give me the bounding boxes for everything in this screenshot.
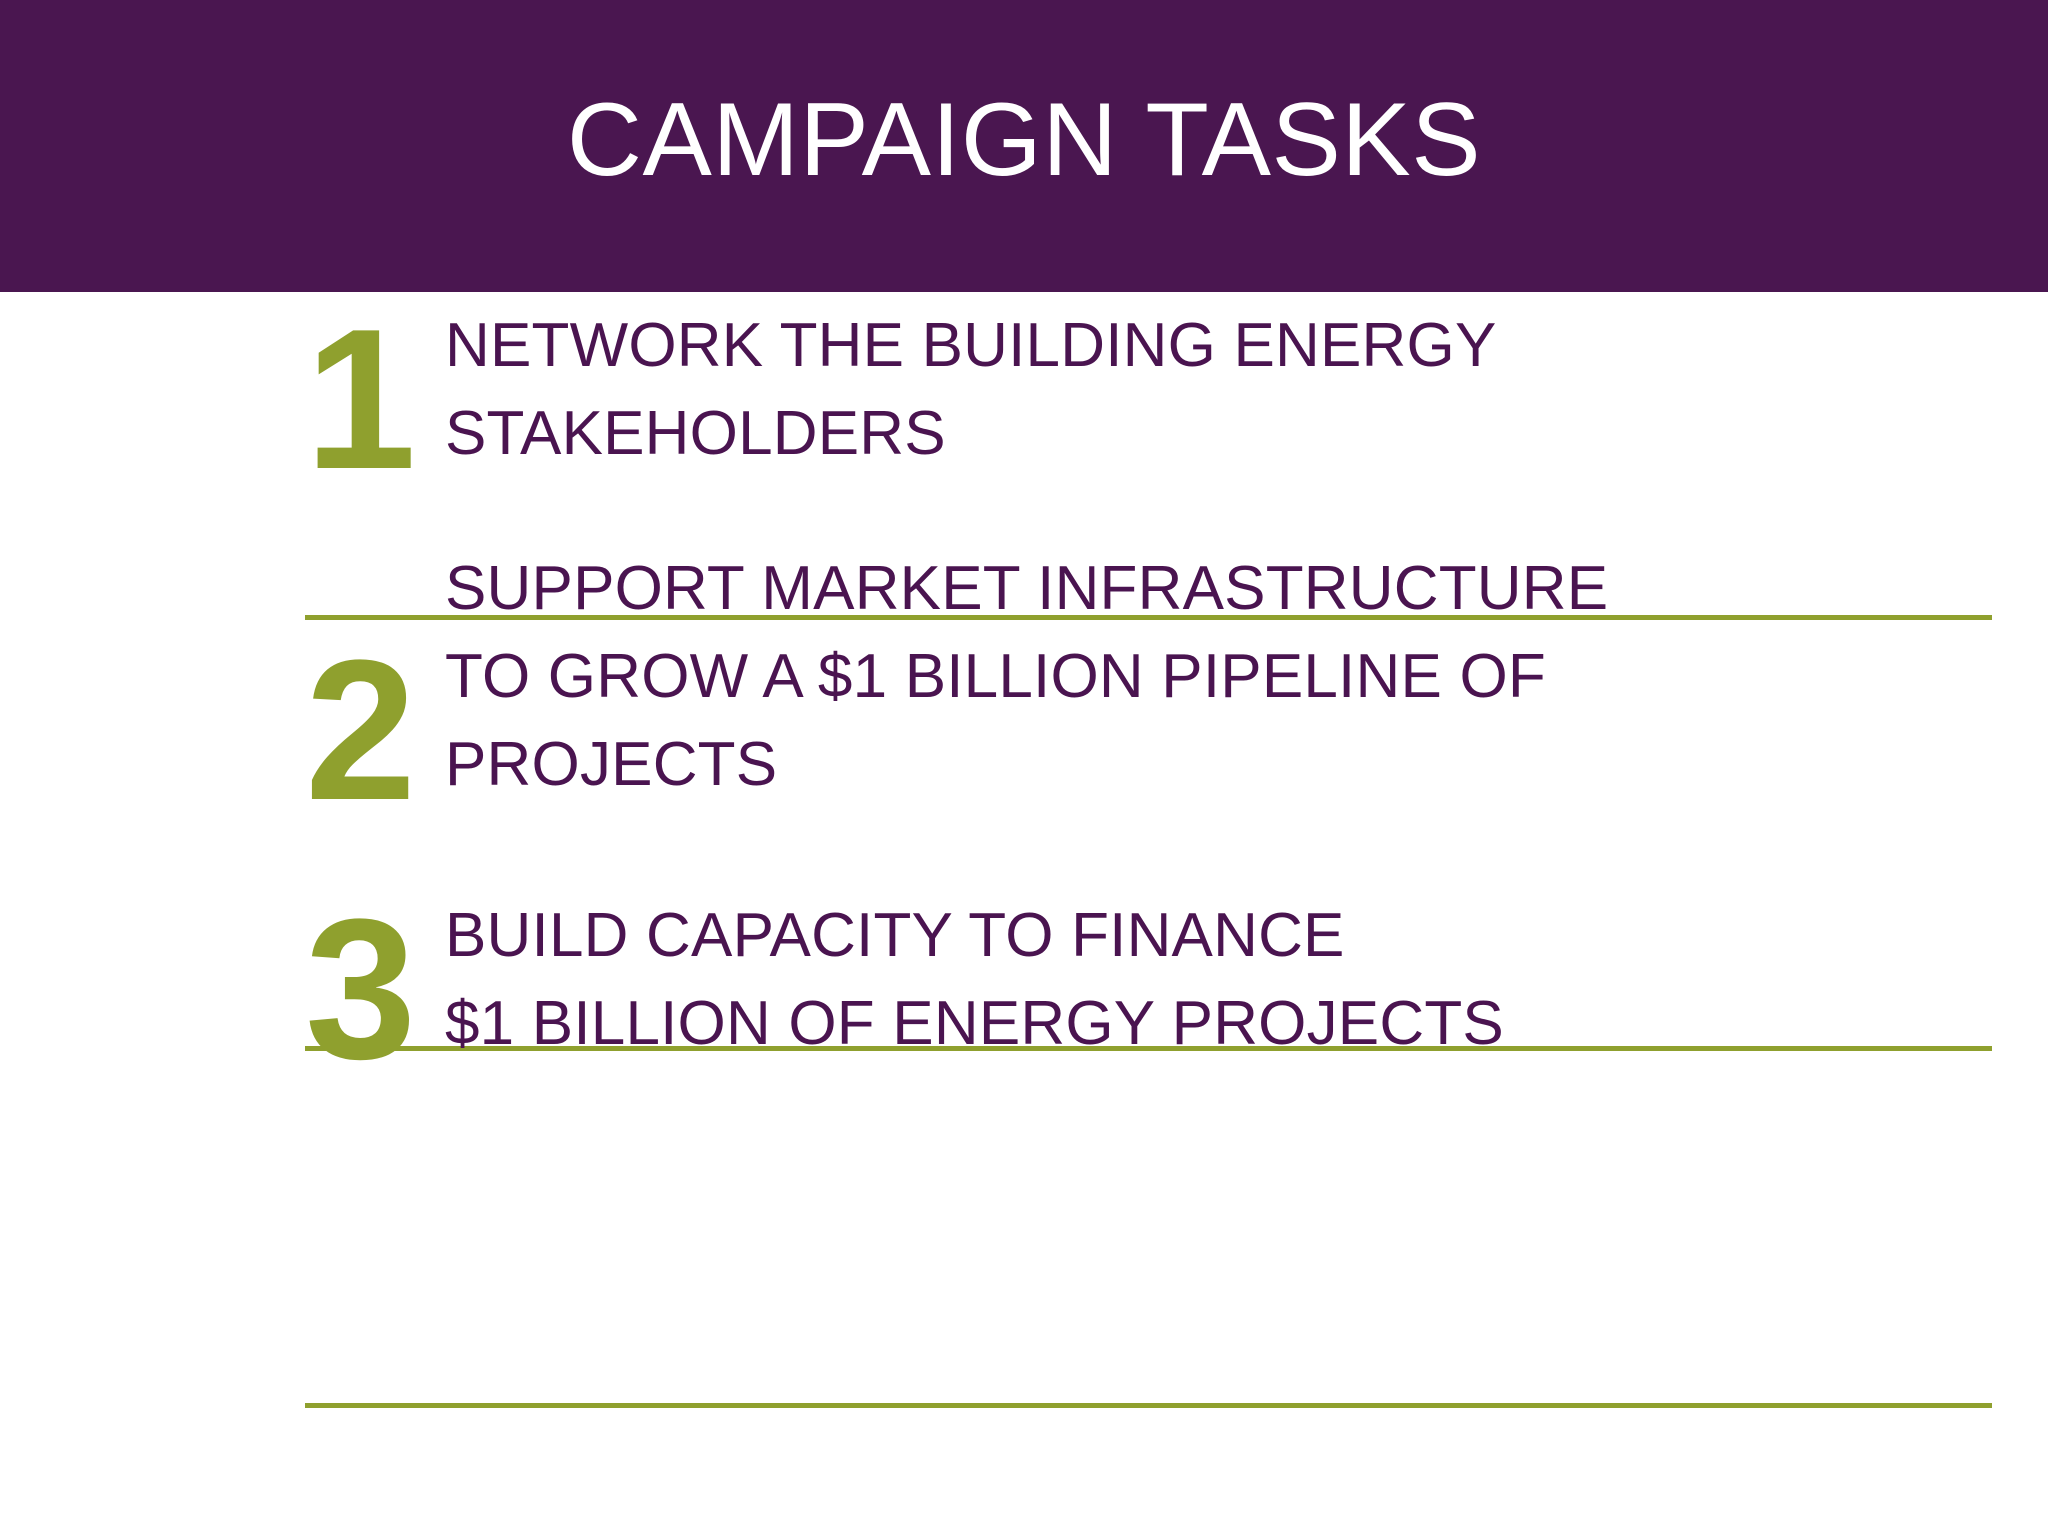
task-item-3: 3 BUILD CAPACITY TO FINANCE $1 BILLION O… [305, 892, 1992, 1072]
header-bar: CAMPAIGN TASKS [0, 0, 2048, 292]
task-text-line: PROJECTS [445, 721, 1992, 809]
task-text-line: BUILD CAPACITY TO FINANCE [445, 892, 1992, 980]
task-row: 1 NETWORK THE BUILDING ENERGY STAKEHOLDE… [305, 302, 1992, 482]
task-text-line: SUPPORT MARKET INFRASTRUCTURE [445, 545, 1992, 633]
task-number-3: 3 [305, 908, 445, 1072]
task-item-1: 1 NETWORK THE BUILDING ENERGY STAKEHOLDE… [305, 302, 1992, 482]
task-row: 3 BUILD CAPACITY TO FINANCE $1 BILLION O… [305, 892, 1992, 1072]
task-item-2: 2 SUPPORT MARKET INFRASTRUCTURE TO GROW … [305, 545, 1992, 813]
task-text-line: $1 BILLION OF ENERGY PROJECTS [445, 980, 1992, 1068]
slide-root: CAMPAIGN TASKS 1 NETWORK THE BUILDING EN… [0, 0, 2048, 1536]
task-text-line: STAKEHOLDERS [445, 390, 1992, 478]
task-text-2: SUPPORT MARKET INFRASTRUCTURE TO GROW A … [445, 545, 1992, 813]
task-text-line: NETWORK THE BUILDING ENERGY [445, 302, 1992, 390]
task-number-2: 2 [305, 649, 445, 813]
task-row: 2 SUPPORT MARKET INFRASTRUCTURE TO GROW … [305, 545, 1992, 813]
task-number-1: 1 [305, 318, 445, 482]
task-divider-3 [305, 1403, 1992, 1408]
task-list: 1 NETWORK THE BUILDING ENERGY STAKEHOLDE… [0, 292, 2048, 1536]
task-text-line: TO GROW A $1 BILLION PIPELINE OF [445, 633, 1992, 721]
task-text-3: BUILD CAPACITY TO FINANCE $1 BILLION OF … [445, 892, 1992, 1072]
page-title: CAMPAIGN TASKS [567, 88, 1481, 192]
task-text-1: NETWORK THE BUILDING ENERGY STAKEHOLDERS [445, 302, 1992, 482]
